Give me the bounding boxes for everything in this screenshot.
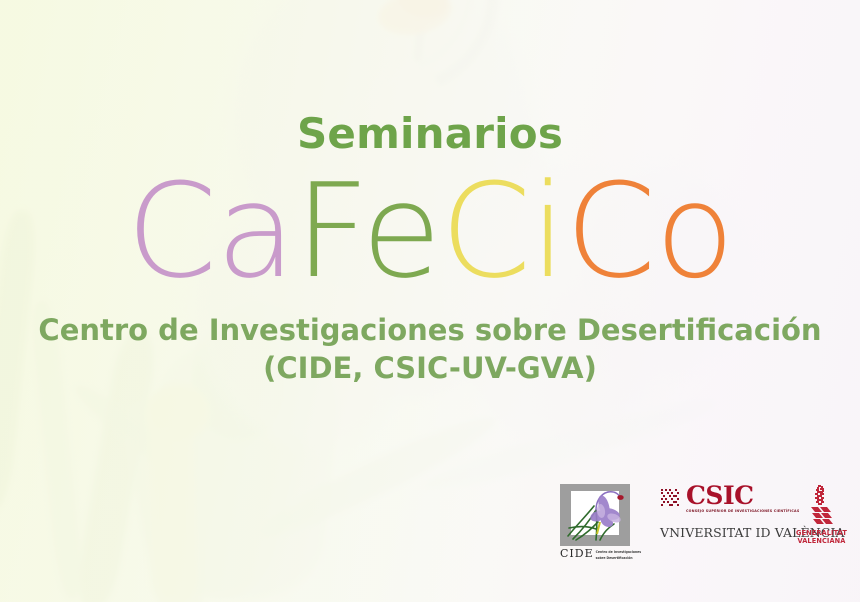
wordmark-part-ca: Ca — [126, 166, 294, 296]
csic-text-block: CSIC CONSEJO SUPERIOR DE INVESTIGACIONES… — [686, 484, 799, 513]
uv-wordmark: VNIVERSITAT ID VALÈNCIA — [660, 525, 778, 540]
gva-line-2: VALENCIANA — [796, 537, 847, 545]
wordmark-part-ci: Ci — [440, 166, 565, 296]
poster-subtitle: Centro de Investigaciones sobre Desertif… — [0, 311, 860, 388]
logo-cide[interactable]: CIDE Centro de Investigaciones sobre Des… — [560, 484, 634, 561]
cafecico-wordmark: CaFeCiCo — [0, 166, 860, 296]
cide-subtitle-line-1: Centro de Investigaciones — [596, 548, 641, 554]
cide-caption: CIDE Centro de Investigaciones sobre Des… — [560, 548, 634, 561]
iris-flower-icon — [560, 484, 630, 546]
gva-mark-wrap — [796, 484, 847, 526]
cide-subtitle: Centro de Investigaciones sobre Desertif… — [596, 548, 641, 561]
cide-subtitle-line-2: sobre Desertificación — [596, 554, 641, 560]
logo-generalitat-valenciana[interactable]: GENERALITAT VALENCIANA — [796, 484, 847, 546]
cide-emblem-frame — [560, 484, 630, 546]
kicker-seminarios: Seminarios — [0, 109, 860, 158]
logo-csic-uv[interactable]: CSIC CONSEJO SUPERIOR DE INVESTIGACIONES… — [660, 484, 778, 540]
csic-subtitle: CONSEJO SUPERIOR DE INVESTIGACIONES CIEN… — [686, 509, 799, 513]
wordmark-part-fe: Fe — [295, 166, 441, 296]
wordmark-part-co: Co — [565, 166, 733, 296]
seminar-poster-slide: Seminarios CaFeCiCo Centro de Investigac… — [0, 0, 860, 602]
csic-wordmark: CSIC — [686, 484, 799, 507]
cide-wordmark: CIDE — [560, 548, 594, 559]
csic-row: CSIC CONSEJO SUPERIOR DE INVESTIGACIONES… — [660, 484, 778, 513]
gva-text-block: GENERALITAT VALENCIANA — [796, 529, 847, 546]
poster-content: Seminarios CaFeCiCo Centro de Investigac… — [0, 0, 860, 602]
csic-grid-mark-icon — [660, 488, 682, 510]
gva-line-1: GENERALITAT — [796, 529, 847, 537]
subtitle-line-2: (CIDE, CSIC-UV-GVA) — [0, 349, 860, 387]
institution-logo-strip: CIDE Centro de Investigaciones sobre Des… — [560, 484, 840, 576]
subtitle-line-1: Centro de Investigaciones sobre Desertif… — [38, 313, 821, 347]
generalitat-rat-penat-icon — [808, 484, 834, 526]
